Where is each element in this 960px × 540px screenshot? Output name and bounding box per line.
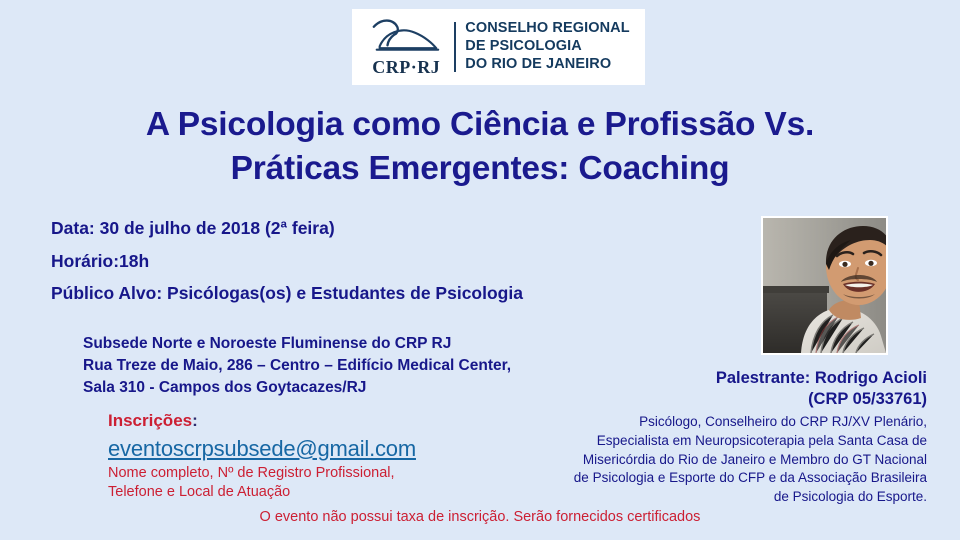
logo-mark-label: CRP·RJ	[372, 58, 440, 76]
venue-line-1: Subsede Norte e Noroeste Fluminense do C…	[83, 333, 511, 355]
event-fee-notice: O evento não possui taxa de inscrição. S…	[0, 509, 960, 526]
registration-heading-label: Inscrições	[108, 411, 192, 430]
speaker-bio-line-2: Especialista em Neuropsicoterapia pela S…	[497, 432, 927, 451]
event-title-line-2: Práticas Emergentes: Coaching	[0, 147, 960, 191]
event-title: A Psicologia como Ciência e Profissão Vs…	[0, 103, 960, 190]
registration-section: Inscrições: eventoscrpsubsede@gmail.com …	[108, 412, 416, 503]
speaker-bio-line-4: de Psicologia e Esporte do CFP e da Asso…	[497, 469, 927, 488]
speaker-bio-line-3: Misericórdia do Rio de Janeiro e Membro …	[497, 451, 927, 470]
speaker-bio-line-5: de Psicologia do Esporte.	[497, 488, 927, 507]
event-audience: Público Alvo: Psicólogas(os) e Estudante…	[51, 285, 523, 303]
event-details: Data: 30 de julho de 2018 (2ª feira) Hor…	[51, 220, 523, 303]
speaker-info: Palestrante: Rodrigo Acioli (CRP 05/3376…	[497, 368, 927, 506]
event-time: Horário:18h	[51, 253, 523, 271]
speaker-photo-frame	[761, 216, 888, 355]
event-poster: CRP·RJ Conselho Regional de Psicologia d…	[0, 0, 960, 540]
registration-email-link[interactable]: eventoscrpsubsede@gmail.com	[108, 436, 416, 461]
speaker-bio-line-1: Psicólogo, Conselheiro do CRP RJ/XV Plen…	[497, 413, 927, 432]
event-venue-address: Subsede Norte e Noroeste Fluminense do C…	[83, 333, 511, 399]
logo-org-line-1: Conselho Regional	[465, 20, 629, 38]
crp-rj-logo: CRP·RJ Conselho Regional de Psicologia d…	[352, 9, 645, 85]
registration-note-line-2: Telefone e Local de Atuação	[108, 483, 416, 502]
event-date: Data: 30 de julho de 2018 (2ª feira)	[51, 220, 523, 238]
speaker-photo	[763, 218, 886, 353]
crp-wave-bird-icon: CRP·RJ	[367, 18, 445, 76]
registration-note-line-1: Nome completo, Nº de Registro Profission…	[108, 464, 416, 483]
registration-heading-colon: :	[192, 411, 198, 430]
speaker-name: Palestrante: Rodrigo Acioli (CRP 05/3376…	[497, 368, 927, 409]
logo-org-name: Conselho Regional de Psicologia do Rio d…	[465, 20, 629, 74]
logo-inner: CRP·RJ Conselho Regional de Psicologia d…	[367, 18, 629, 76]
logo-org-line-3: do Rio de Janeiro	[465, 56, 629, 74]
speaker-bio: Psicólogo, Conselheiro do CRP RJ/XV Plen…	[497, 413, 927, 506]
venue-line-3: Sala 310 - Campos dos Goytacazes/RJ	[83, 377, 511, 399]
logo-org-line-2: de Psicologia	[465, 38, 629, 56]
registration-note: Nome completo, Nº de Registro Profission…	[108, 464, 416, 503]
event-title-line-1: A Psicologia como Ciência e Profissão Vs…	[0, 103, 960, 147]
speaker-name-line: Palestrante: Rodrigo Acioli	[497, 368, 927, 389]
registration-heading: Inscrições:	[108, 412, 416, 431]
logo-divider	[454, 22, 456, 72]
speaker-registration: (CRP 05/33761)	[497, 389, 927, 410]
venue-line-2: Rua Treze de Maio, 286 – Centro – Edifíc…	[83, 355, 511, 377]
